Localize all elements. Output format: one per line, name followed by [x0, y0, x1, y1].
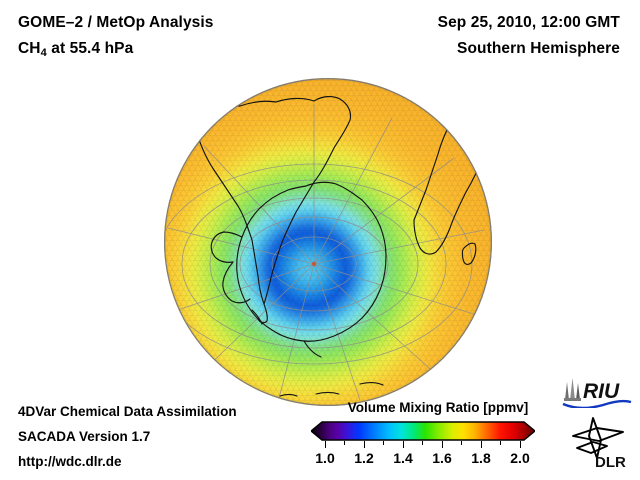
- dlr-logo: DLR: [563, 414, 633, 470]
- globe-disc: [164, 78, 492, 406]
- riu-wordmark: RIU: [583, 380, 620, 403]
- colorbar: [311, 421, 535, 441]
- colorbar-tick-label: 1.4: [383, 450, 423, 466]
- colorbar-gradient: [311, 421, 535, 441]
- globe-map: [164, 78, 492, 406]
- colorbar-tick-label: 1.2: [344, 450, 384, 466]
- colorbar-tick-label: 2.0: [500, 450, 540, 466]
- region-label: Southern Hemisphere: [457, 40, 620, 58]
- species-prefix: CH: [18, 40, 41, 57]
- dlr-wordmark: DLR: [595, 454, 626, 470]
- data-center-url[interactable]: http://wdc.dlr.de: [18, 454, 122, 469]
- method-label: 4DVar Chemical Data Assimilation: [18, 404, 237, 419]
- globe-limb: [164, 78, 492, 406]
- datetime-label: Sep 25, 2010, 12:00 GMT: [438, 14, 620, 32]
- species-suffix: at 55.4 hPa: [47, 40, 134, 57]
- species-level-label: CH4 at 55.4 hPa: [18, 40, 133, 59]
- riu-towers-icon: [564, 378, 581, 401]
- colorbar-tick-label: 1.6: [422, 450, 462, 466]
- dlr-mark-icon: [573, 418, 623, 458]
- analysis-title: GOME–2 / MetOp Analysis: [18, 14, 214, 32]
- colorbar-tick-label: 1.0: [305, 450, 345, 466]
- riu-logo: RIU: [561, 374, 633, 408]
- colorbar-ticks: [311, 441, 535, 449]
- colorbar-tick-label: 1.8: [461, 450, 501, 466]
- version-label: SACADA Version 1.7: [18, 429, 150, 444]
- colorbar-tick-labels: 1.0 1.2 1.4 1.6 1.8 2.0: [291, 450, 555, 470]
- colorbar-title: Volume Mixing Ratio [ppmv]: [330, 400, 546, 415]
